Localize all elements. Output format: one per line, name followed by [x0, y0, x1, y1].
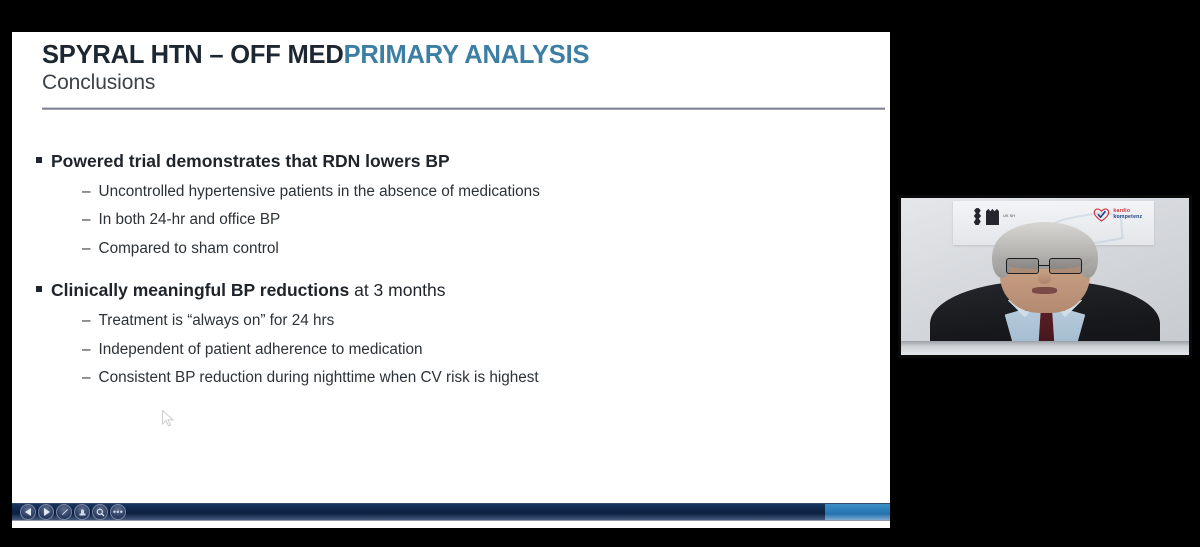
triangle-left-icon: [25, 508, 32, 516]
page-title: SPYRAL HTN – OFF MEDPRIMARY ANALYSIS: [42, 42, 884, 69]
pen-button[interactable]: [56, 504, 72, 520]
glasses-lens-right: [1049, 258, 1082, 274]
sub-bullet-text: Treatment is “always on” for 24 hrs: [99, 311, 335, 331]
sub-bullet-text: In both 24-hr and office BP: [99, 210, 281, 230]
bullet-text-strong: Powered trial demonstrates that RDN lowe…: [51, 151, 450, 171]
sub-bullet-text: Compared to sham control: [99, 239, 279, 259]
sub-bullet-text: Independent of patient adherence to medi…: [99, 340, 423, 360]
stamp-icon: [78, 508, 87, 517]
title-divider: [42, 107, 885, 110]
triangle-right-icon: [43, 508, 50, 516]
sub-bullet-item: – Uncontrolled hypertensive patients in …: [82, 182, 870, 202]
stamp-button[interactable]: [74, 504, 90, 520]
square-bullet-icon: [36, 157, 42, 163]
screen: SPYRAL HTN – OFF MEDPRIMARY ANALYSIS Con…: [0, 0, 1200, 547]
play-button[interactable]: [38, 504, 54, 520]
zoom-button[interactable]: [92, 504, 108, 520]
previous-button[interactable]: [20, 504, 36, 520]
sub-bullet-item: – Treatment is “always on” for 24 hrs: [82, 311, 870, 331]
nose: [1038, 272, 1051, 285]
dash-bullet-icon: –: [82, 368, 91, 388]
speaker-video-panel[interactable]: UK SH kardio kompetenz: [898, 195, 1192, 358]
bullet-text: Powered trial demonstrates that RDN lowe…: [51, 150, 450, 173]
speaker-figure: [901, 198, 1189, 355]
bullet-item-primary: Powered trial demonstrates that RDN lowe…: [36, 150, 870, 173]
bullet-text-strong: Clinically meaningful BP reductions: [51, 280, 349, 300]
sub-bullet-text: Uncontrolled hypertensive patients in th…: [99, 182, 540, 202]
sub-bullet-text: Consistent BP reduction during nighttime…: [99, 368, 539, 388]
dash-bullet-icon: –: [82, 239, 91, 259]
slide-header: SPYRAL HTN – OFF MEDPRIMARY ANALYSIS Con…: [42, 42, 884, 96]
sub-bullet-item: – In both 24-hr and office BP: [82, 210, 870, 230]
bullet-text-plain: at 3 months: [349, 280, 445, 300]
pen-icon: [60, 508, 69, 517]
bullet-group: Clinically meaningful BP reductions at 3…: [36, 279, 870, 387]
page-title-dark-part: SPYRAL HTN – OFF MED: [42, 41, 344, 69]
ellipsis-icon: •••: [113, 508, 123, 517]
desk-surface: [901, 341, 1189, 355]
dash-bullet-icon: –: [82, 340, 91, 360]
square-bullet-icon: [36, 286, 42, 292]
dash-bullet-icon: –: [82, 311, 91, 331]
video-feed: UK SH kardio kompetenz: [901, 198, 1189, 355]
media-player-bar[interactable]: •••: [12, 496, 890, 528]
presentation-slide[interactable]: SPYRAL HTN – OFF MEDPRIMARY ANALYSIS Con…: [12, 32, 890, 528]
sub-bullet-item: – Independent of patient adherence to me…: [82, 340, 870, 360]
glasses-lens-left: [1006, 258, 1039, 274]
progress-buffer-segment: [825, 504, 890, 520]
bullet-item-primary: Clinically meaningful BP reductions at 3…: [36, 279, 870, 302]
bullet-group: Powered trial demonstrates that RDN lowe…: [36, 150, 870, 258]
magnifier-icon: [96, 508, 105, 517]
progress-scrubber[interactable]: [12, 503, 890, 521]
mouth: [1032, 287, 1056, 293]
page-subtitle: Conclusions: [42, 70, 884, 96]
page-title-blue-part: PRIMARY ANALYSIS: [344, 41, 590, 69]
sub-bullet-item: – Consistent BP reduction during nightti…: [82, 368, 870, 388]
dash-bullet-icon: –: [82, 210, 91, 230]
sub-bullet-item: – Compared to sham control: [82, 239, 870, 259]
player-controls[interactable]: •••: [20, 503, 126, 521]
bullet-text: Clinically meaningful BP reductions at 3…: [51, 279, 446, 302]
dash-bullet-icon: –: [82, 182, 91, 202]
mouse-cursor-icon: [162, 410, 175, 427]
slide-content-area: SPYRAL HTN – OFF MEDPRIMARY ANALYSIS Con…: [12, 32, 890, 496]
bullet-content: Powered trial demonstrates that RDN lowe…: [36, 150, 870, 388]
glasses-bridge: [1039, 265, 1049, 267]
more-button[interactable]: •••: [110, 504, 126, 520]
